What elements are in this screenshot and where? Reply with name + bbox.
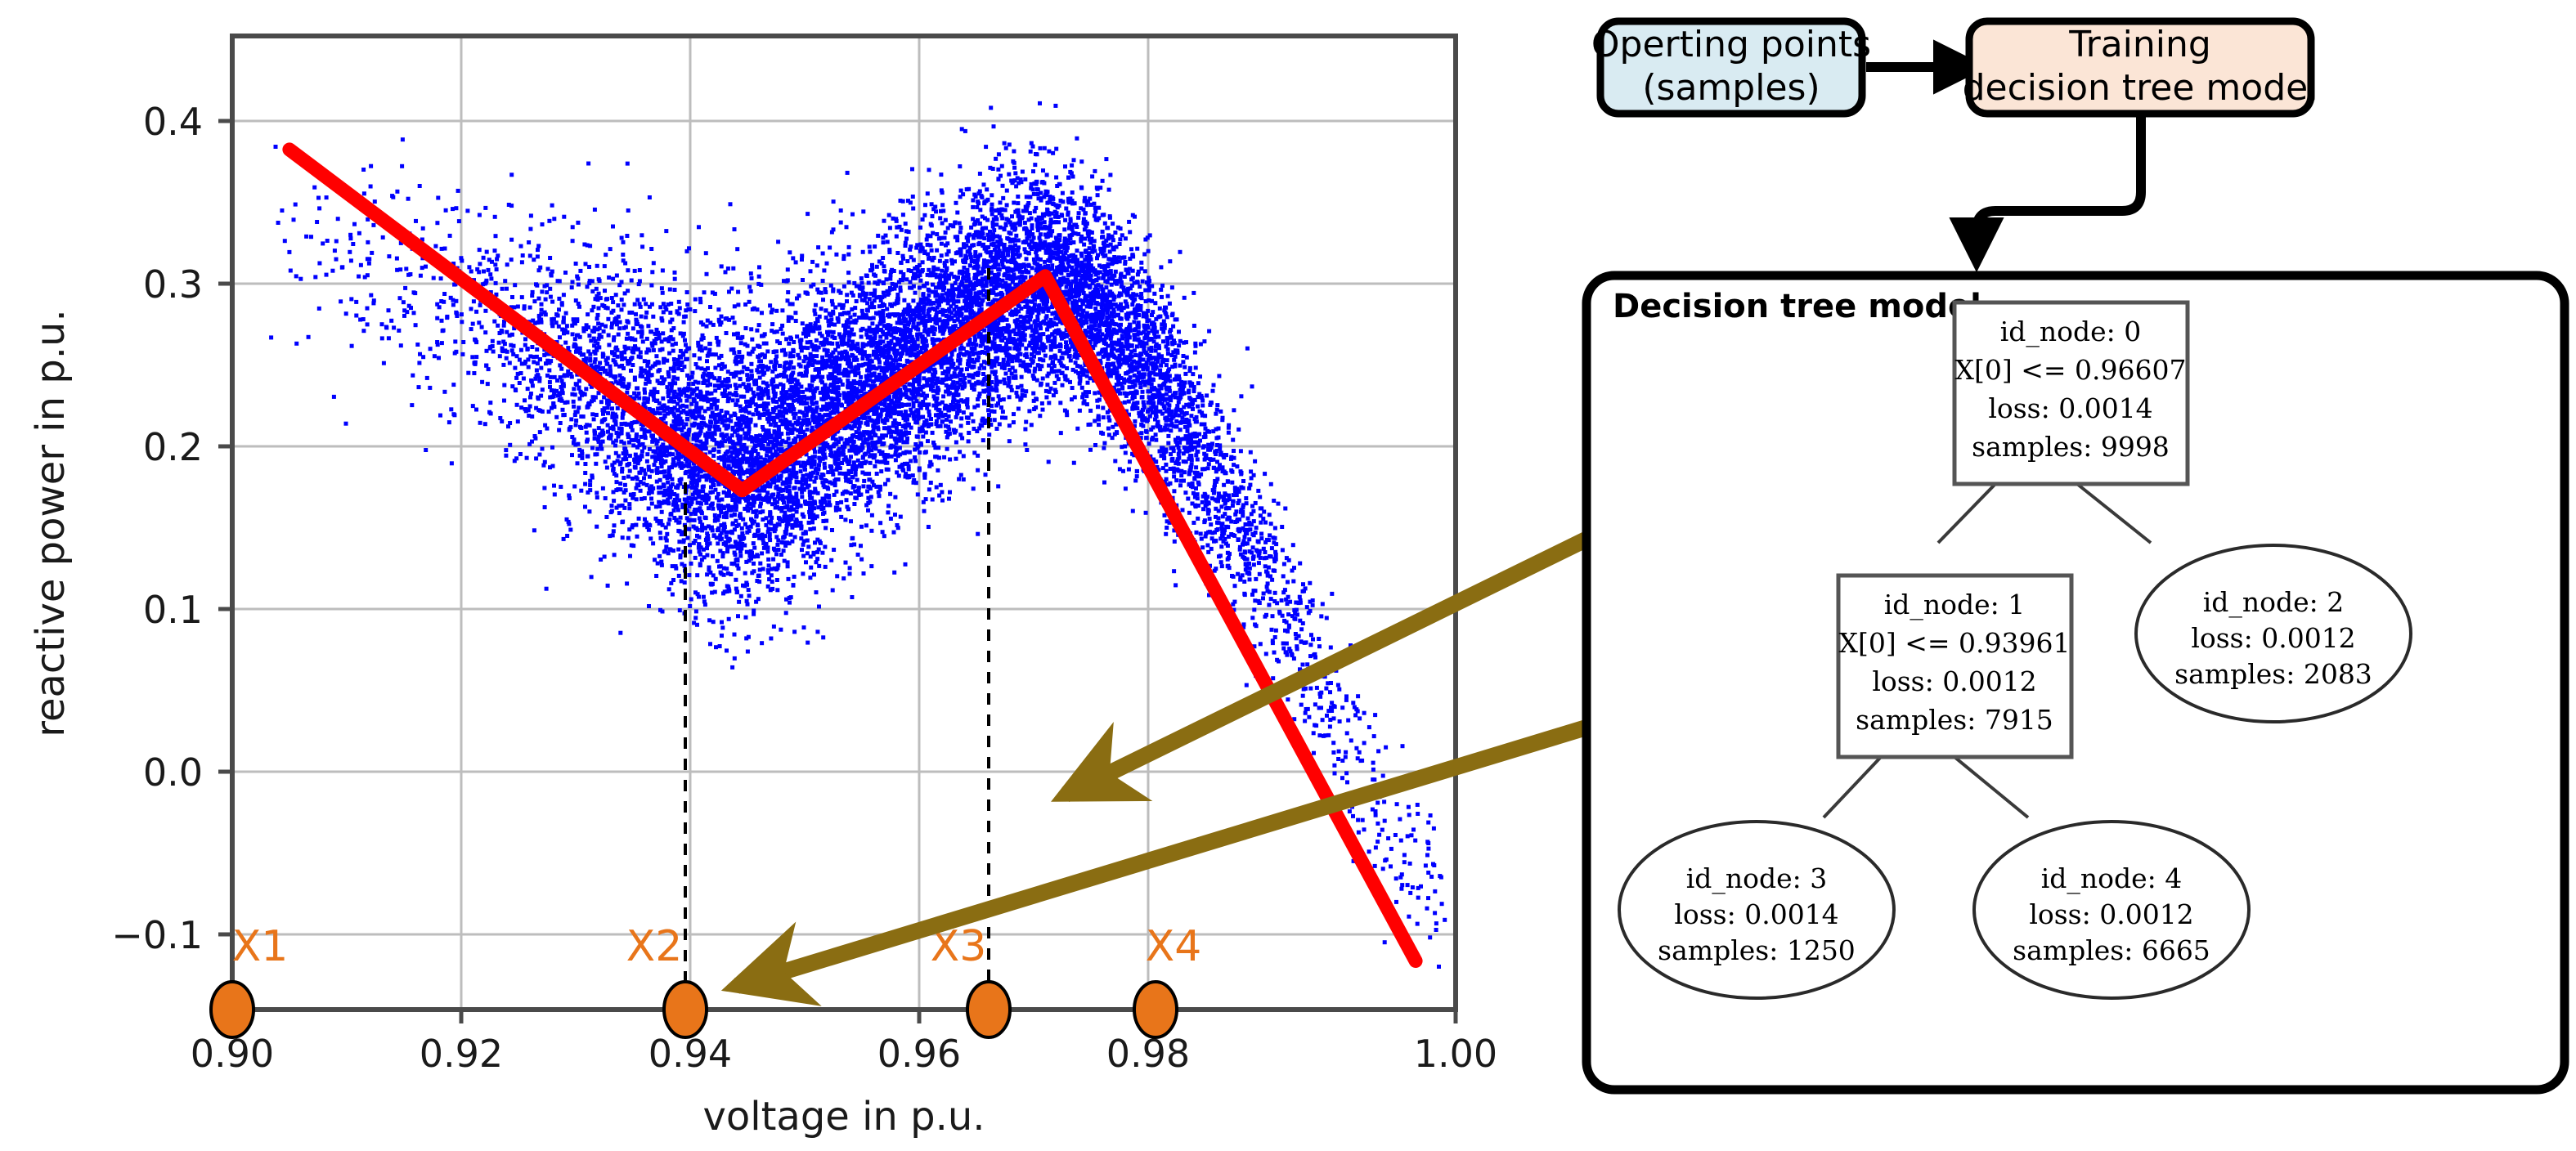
panel-title: Decision tree model: [1613, 288, 1981, 325]
tree-node-4-line1: loss: 0.0012: [2029, 898, 2193, 930]
tree-node-3[interactable]: id_node: 3 loss: 0.0014 samples: 1250: [1619, 822, 1894, 998]
tree-node-0-line0: id_node: 0: [2000, 316, 2142, 348]
training-box[interactable]: Training decision tree model: [1963, 21, 2318, 114]
tree-node-1-line2: loss: 0.0012: [1872, 665, 2036, 697]
tree-node-2[interactable]: id_node: 2 loss: 0.0012 samples: 2083: [2136, 545, 2411, 722]
tree-node-4-line0: id_node: 4: [2041, 862, 2183, 895]
tree-node-0-line2: loss: 0.0014: [1988, 392, 2152, 424]
arrow-training-to-panel: [1977, 117, 2141, 247]
source-box[interactable]: Operting points (samples): [1591, 21, 1871, 114]
decision-tree-diagram: Operting points (samples) Training decis…: [1554, 0, 2576, 1151]
source-box-line1: Operting points: [1591, 24, 1871, 65]
training-box-line2: decision tree model: [1963, 67, 2318, 109]
tree-node-3-line1: loss: 0.0014: [1674, 898, 1838, 930]
tree-node-4-line2: samples: 6665: [2013, 934, 2210, 966]
source-box-line2: (samples): [1642, 67, 1820, 109]
tree-node-1-line3: samples: 7915: [1856, 704, 2053, 736]
tree-node-3-line0: id_node: 3: [1686, 862, 1828, 895]
tree-node-2-line2: samples: 2083: [2174, 658, 2372, 690]
tree-node-0-line3: samples: 9998: [1972, 431, 2170, 463]
tree-node-2-line1: loss: 0.0012: [2191, 622, 2355, 654]
tree-node-0[interactable]: id_node: 0 X[0] <= 0.96607 loss: 0.0014 …: [1954, 302, 2188, 484]
tree-node-3-line2: samples: 1250: [1658, 934, 1856, 966]
tree-node-2-line0: id_node: 2: [2203, 586, 2345, 619]
training-box-line1: Training: [2068, 24, 2211, 65]
tree-node-0-line1: X[0] <= 0.96607: [1955, 354, 2187, 386]
tree-node-1-line0: id_node: 1: [1884, 589, 2026, 621]
tree-node-1[interactable]: id_node: 1 X[0] <= 0.93961 loss: 0.0012 …: [1838, 575, 2071, 757]
tree-node-1-line1: X[0] <= 0.93961: [1839, 627, 2071, 659]
diagram-canvas: Operting points (samples) Training decis…: [1554, 0, 2576, 1151]
figure-root: 0.90 0.92 0.94 0.96 0.98 1.00 0.4 0.3 0.…: [0, 0, 2576, 1151]
tree-node-4[interactable]: id_node: 4 loss: 0.0012 samples: 6665: [1974, 822, 2249, 998]
